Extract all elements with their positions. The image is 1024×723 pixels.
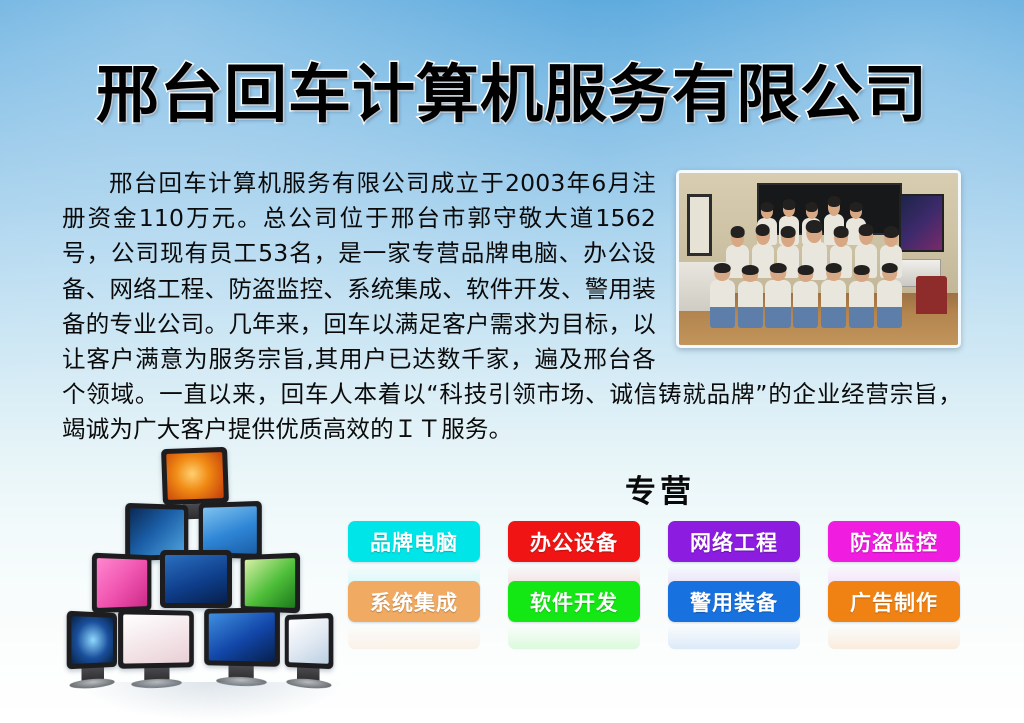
specialty-tag-office-equipment[interactable]: 办公设备 xyxy=(508,521,640,562)
monitor-base xyxy=(70,677,115,690)
monitor-stack-reflection xyxy=(82,682,342,720)
monitor-screen xyxy=(118,609,194,669)
poster-canvas: 邢台回车计算机服务有限公司 xyxy=(0,0,1024,723)
specialty-tag-label: 网络工程 xyxy=(690,527,778,557)
specialty-heading: 专营 xyxy=(560,466,760,511)
monitor-screen-image xyxy=(123,614,189,663)
specialty-tag-label: 广告制作 xyxy=(850,587,938,617)
monitor-screen-image xyxy=(203,506,257,554)
specialty-tag-software-development[interactable]: 软件开发 xyxy=(508,581,640,622)
specialty-tag-brand-computers[interactable]: 品牌电脑 xyxy=(348,521,480,562)
company-intro-text: 邢台回车计算机服务有限公司成立于2003年6月注册资金110万元。总公司位于邢台… xyxy=(62,166,962,448)
specialty-tag-police-equipment[interactable]: 警用装备 xyxy=(668,581,800,622)
monitor-screen-image xyxy=(245,558,295,608)
specialty-tag-label: 品牌电脑 xyxy=(370,527,458,557)
monitor-screen-image xyxy=(166,452,224,500)
monitor-screen-image xyxy=(289,618,329,664)
specialty-tag-system-integration[interactable]: 系统集成 xyxy=(348,581,480,622)
monitor-screen-image xyxy=(209,612,275,661)
monitor-screen-image xyxy=(130,508,184,556)
specialty-tag-security-monitoring[interactable]: 防盗监控 xyxy=(828,521,960,562)
monitor-base xyxy=(286,678,331,690)
monitor-base xyxy=(216,676,266,687)
monitor-screen-image xyxy=(97,558,147,608)
specialty-tag-network-engineering[interactable]: 网络工程 xyxy=(668,521,800,562)
monitor-base xyxy=(131,678,181,689)
monitor-screen xyxy=(285,613,334,669)
monitor-screen-image xyxy=(165,555,227,603)
specialty-tag-label: 防盗监控 xyxy=(850,527,938,557)
monitor-screen xyxy=(241,553,300,614)
specialty-tag-label: 警用装备 xyxy=(690,587,778,617)
monitor-screen xyxy=(161,447,229,505)
specialty-tag-advertising-production[interactable]: 广告制作 xyxy=(828,581,960,622)
monitor-screen xyxy=(204,607,280,667)
page-title: 邢台回车计算机服务有限公司 xyxy=(96,62,928,128)
specialty-tag-label: 软件开发 xyxy=(530,587,618,617)
specialty-tag-grid: 品牌电脑 办公设备 网络工程 防盗监控 系统集成 软件开发 警用装备 广告制作 xyxy=(348,521,960,622)
monitor-pyramid-graphic xyxy=(62,444,362,714)
monitor-screen-image xyxy=(71,616,113,664)
specialty-tag-label: 办公设备 xyxy=(530,527,618,557)
specialty-tag-label: 系统集成 xyxy=(370,587,458,617)
monitor-screen xyxy=(67,611,117,670)
monitor-screen xyxy=(92,553,151,614)
monitor-screen xyxy=(160,550,232,608)
title-block: 邢台回车计算机服务有限公司 xyxy=(0,62,1024,128)
photo-text-wrap-spacer xyxy=(670,170,962,360)
